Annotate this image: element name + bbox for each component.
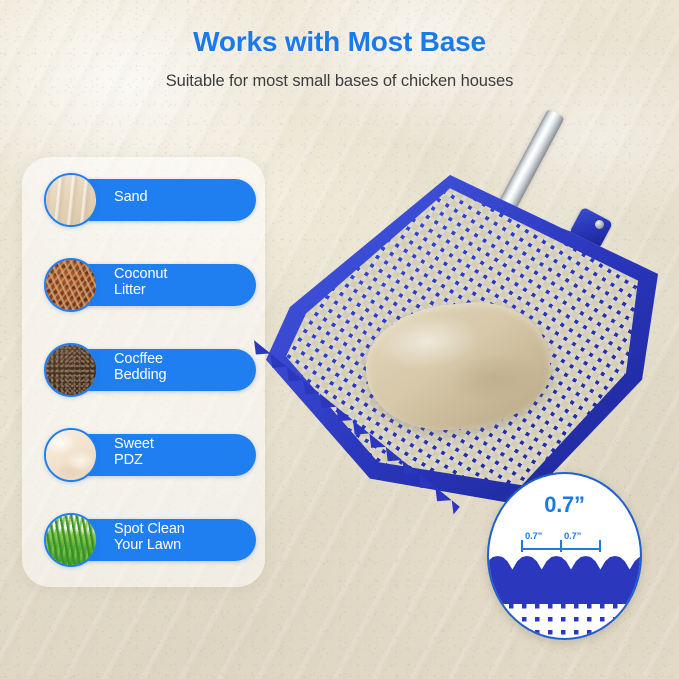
callout-big-measure: 0.7”	[489, 492, 640, 518]
dimension-tick	[560, 540, 562, 552]
coconut-litter-swatch-icon	[44, 258, 98, 312]
mesh-hole-size-callout: 0.7” 0.7” 0.7”	[487, 472, 642, 640]
list-item-spot-clean-lawn[interactable]: Spot Clean Your Lawn	[44, 516, 256, 564]
list-item-coconut-litter[interactable]: Coconut Litter	[44, 261, 256, 309]
dimension-label-left: 0.7”	[525, 531, 542, 542]
list-item-label: Sand	[114, 176, 229, 218]
page-subtitle: Suitable for most small bases of chicken…	[0, 72, 679, 91]
wave-crest-row	[487, 556, 642, 582]
list-item-label: Cocffee Bedding	[114, 346, 229, 388]
sweet-pdz-swatch-icon	[44, 428, 98, 482]
list-item-label: Coconut Litter	[114, 261, 229, 303]
list-item-sweet-pdz[interactable]: Sweet PDZ	[44, 431, 256, 479]
list-item-coffee-bedding[interactable]: Cocffee Bedding	[44, 346, 256, 394]
callout-mesh-grid	[487, 604, 642, 640]
header: Works with Most Base Suitable for most s…	[0, 0, 679, 91]
dimension-label-right: 0.7”	[564, 531, 581, 542]
dimension-tick	[521, 540, 523, 552]
coffee-bedding-swatch-icon	[44, 343, 98, 397]
scoop-basket	[258, 175, 658, 505]
product-image-scoop	[258, 120, 679, 540]
base-list-panel: Sand Coconut Litter Cocffee Bedding Swee…	[22, 157, 265, 587]
serrated-edge-diagram	[487, 556, 642, 640]
dimension-tick	[599, 540, 601, 552]
list-item-sand[interactable]: Sand	[44, 176, 256, 224]
product-infographic-page: Works with Most Base Suitable for most s…	[0, 0, 679, 679]
dimension-bracket: 0.7” 0.7”	[521, 540, 601, 552]
page-title: Works with Most Base	[0, 26, 679, 58]
list-item-label: Sweet PDZ	[114, 431, 229, 473]
list-item-label: Spot Clean Your Lawn	[114, 516, 229, 558]
sand-texture-swatch-icon	[44, 173, 98, 227]
lawn-grass-swatch-icon	[44, 513, 98, 567]
